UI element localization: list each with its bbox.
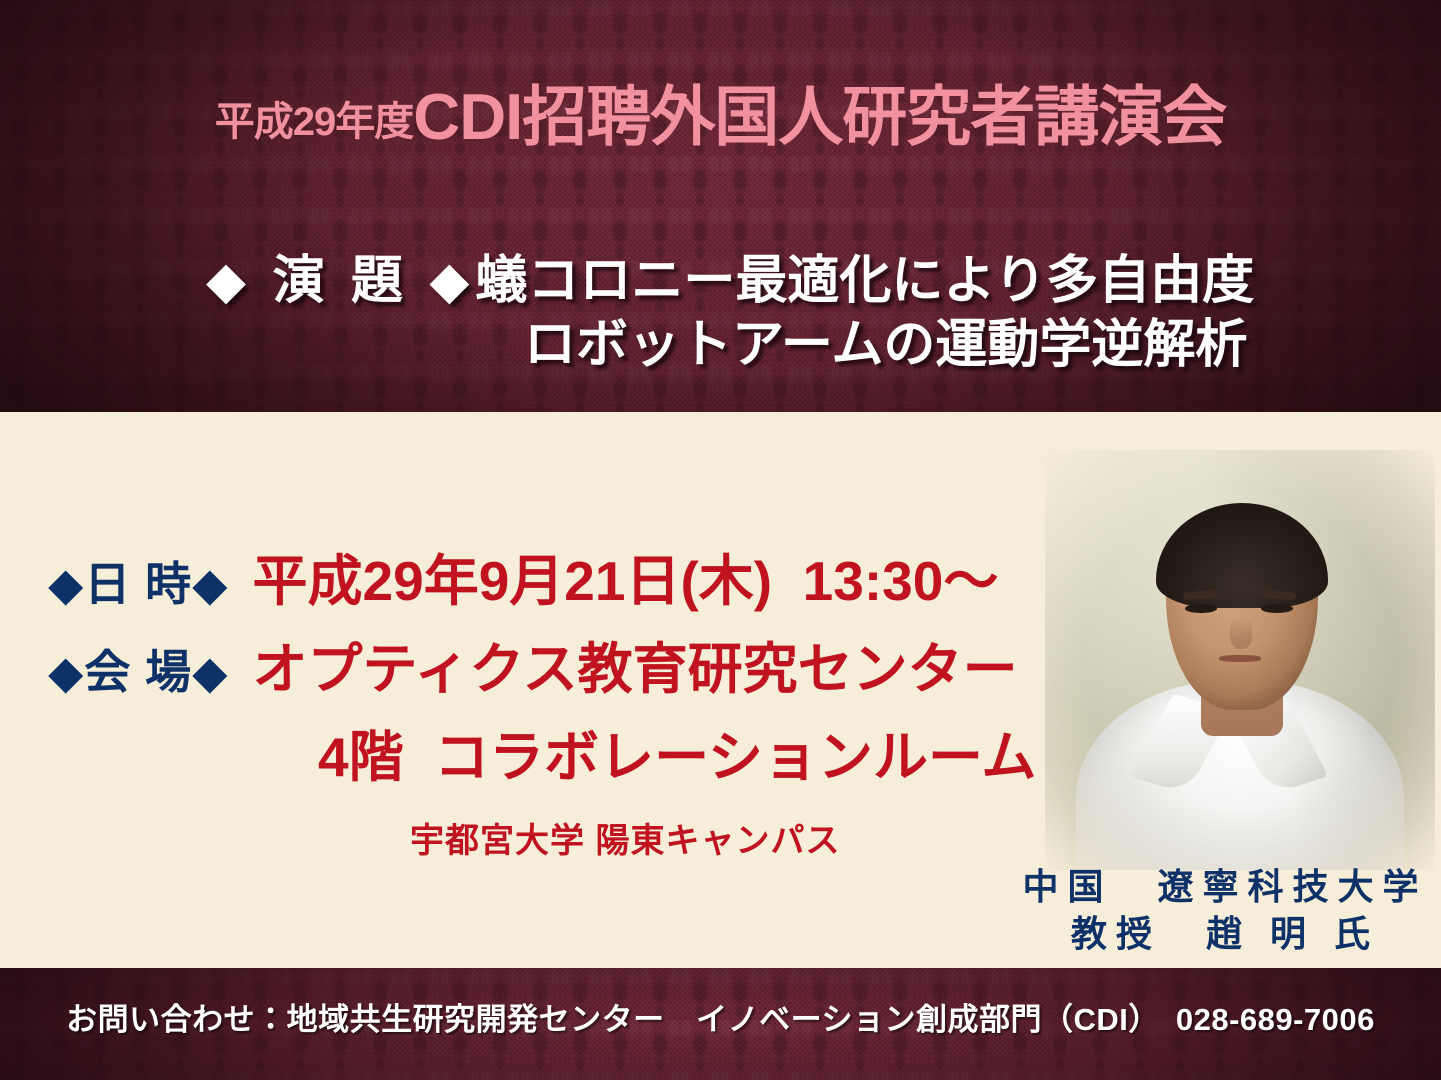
campus-label: 宇都宮大学 陽東キャンパス bbox=[410, 822, 840, 860]
topic-first-line: ◆ 演 題 ◆蟻コロニー最適化により多自由度 bbox=[0, 252, 1441, 310]
title-main-label: CDI招聘外国人研究者講演会 bbox=[413, 80, 1226, 153]
title-era-label: 平成29年度 bbox=[215, 100, 414, 144]
speaker-caption: 中国 遼寧科技大学 教授 趙 明 氏 bbox=[1000, 864, 1441, 958]
venue-value-line-2: 4階 コラボレーションルーム bbox=[318, 726, 1036, 788]
date-value: 平成29年9月21日(木) 13:30〜 bbox=[253, 550, 999, 612]
poster-body: ◆日 時◆平成29年9月21日(木) 13:30〜 ◆会 場◆オプティクス教育研… bbox=[0, 412, 1441, 968]
date-tag-label: ◆日 時◆ bbox=[48, 558, 229, 610]
campus-row: 宇都宮大学 陽東キャンパス bbox=[410, 824, 840, 858]
venue-row: ◆会 場◆オプティクス教育研究センター bbox=[48, 642, 1018, 697]
speaker-name: 教授 趙 明 氏 bbox=[1000, 911, 1441, 958]
speaker-affiliation: 中国 遼寧科技大学 bbox=[1000, 864, 1441, 911]
event-info: ◆日 時◆平成29年9月21日(木) 13:30〜 ◆会 場◆オプティクス教育研… bbox=[0, 412, 1040, 968]
poster-header: 平成29年度CDI招聘外国人研究者講演会 ◆ 演 題 ◆蟻コロニー最適化により多… bbox=[0, 0, 1441, 412]
poster-footer: お問い合わせ：地域共生研究開発センター イノベーション創成部門（CDI） 028… bbox=[0, 968, 1441, 1080]
seminar-poster: 平成29年度CDI招聘外国人研究者講演会 ◆ 演 題 ◆蟻コロニー最適化により多… bbox=[0, 0, 1441, 1080]
topic-text-line-2: ロボットアームの運動学逆解析 bbox=[0, 316, 1441, 374]
date-row: ◆日 時◆平成29年9月21日(木) 13:30〜 bbox=[48, 554, 998, 609]
poster-title: 平成29年度CDI招聘外国人研究者講演会 bbox=[0, 84, 1441, 149]
photo-shading bbox=[1045, 450, 1435, 870]
topic-label: ◆ 演 題 ◆ bbox=[206, 252, 475, 310]
venue-value-line-1: オプティクス教育研究センター bbox=[253, 638, 1018, 700]
speaker-portrait-image bbox=[1045, 450, 1435, 870]
topic-text-line-1: 蟻コロニー最適化により多自由度 bbox=[475, 252, 1254, 310]
venue-row-second: 4階 コラボレーションルーム bbox=[318, 730, 1036, 785]
topic-block: ◆ 演 題 ◆蟻コロニー最適化により多自由度 ロボットアームの運動学逆解析 bbox=[0, 252, 1441, 374]
speaker-photo bbox=[1045, 450, 1435, 870]
contact-info: お問い合わせ：地域共生研究開発センター イノベーション創成部門（CDI） 028… bbox=[0, 994, 1441, 1039]
venue-tag-label: ◆会 場◆ bbox=[48, 646, 229, 698]
